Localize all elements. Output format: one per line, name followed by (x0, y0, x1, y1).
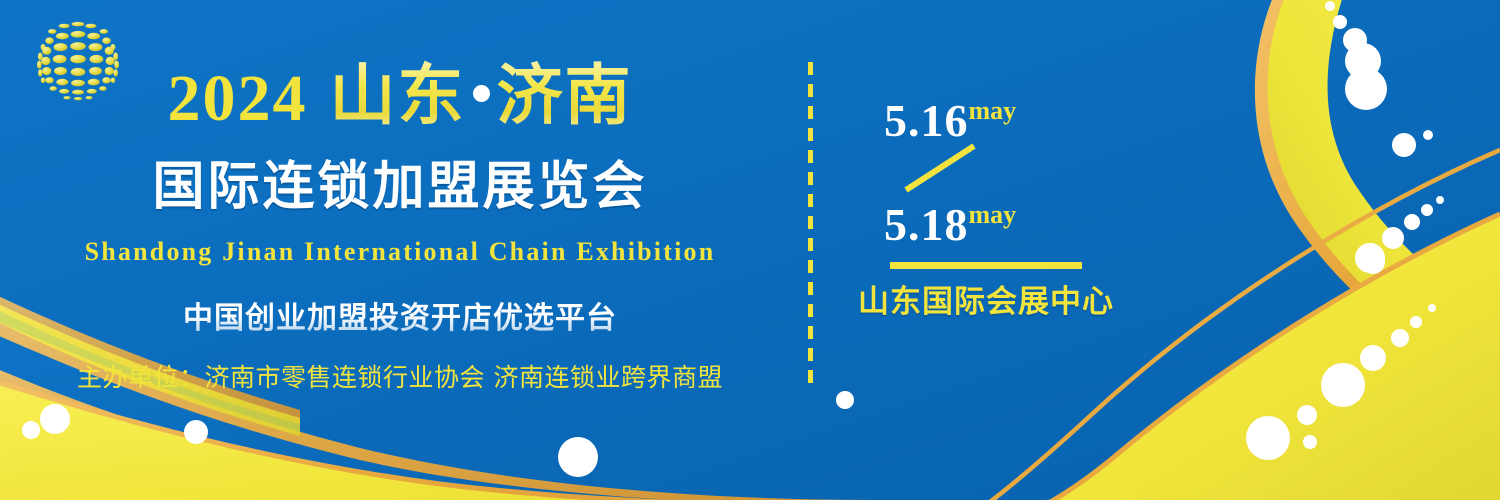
date-underline-rule (890, 262, 1082, 269)
date-start: 5.16may (884, 98, 1016, 144)
date-start-day: 5.16 (884, 95, 969, 146)
exhibition-banner: 2024山东济南 国际连锁加盟展览会 Shandong Jinan Intern… (0, 0, 1500, 500)
title-city-right: 济南 (497, 56, 633, 134)
subtitle-chinese: 国际连锁加盟展览会 (0, 158, 800, 218)
subtitle-english: Shandong Jinan International Chain Exhib… (0, 237, 800, 267)
date-end-day: 5.18 (884, 199, 969, 250)
date-end: 5.18may (884, 202, 1016, 248)
date-venue-block: 5.16may 5.18may 山东国际会展中心 (840, 80, 1140, 330)
organizer-line: 主办单位：济南市零售连锁行业协会 济南连锁业跨界商盟 (0, 358, 800, 394)
title-separator-dot (473, 85, 490, 102)
venue-name: 山东国际会展中心 (852, 276, 1120, 321)
vertical-dashed-divider (808, 62, 813, 388)
title-city-left: 山东 (330, 56, 466, 134)
date-end-month: may (969, 200, 1017, 229)
date-range-slash-icon (902, 142, 978, 194)
date-start-month: may (969, 96, 1017, 125)
main-title: 2024山东济南 (0, 62, 800, 132)
headline-block: 2024山东济南 国际连锁加盟展览会 Shandong Jinan Intern… (0, 0, 800, 500)
tagline: 中国创业加盟投资开店优选平台 (0, 293, 800, 337)
title-year: 2024 (168, 62, 308, 135)
